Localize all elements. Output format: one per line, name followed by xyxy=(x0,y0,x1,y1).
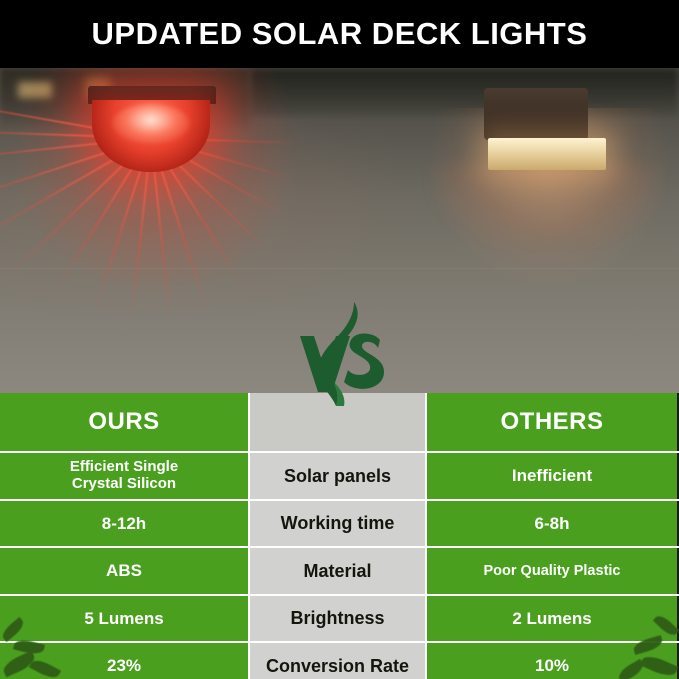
warm-solar-deck-light-body xyxy=(484,88,588,140)
row-others-value: 2 Lumens xyxy=(427,596,677,642)
row-feature-label: Brightness xyxy=(250,596,427,642)
row-ours-value: 8-12h xyxy=(0,501,250,547)
table-row: 5 Lumens Brightness 2 Lumens xyxy=(0,596,679,644)
header-ours: OURS xyxy=(0,393,250,451)
header-banner: UPDATED SOLAR DECK LIGHTS xyxy=(0,0,679,68)
red-light-hotspot xyxy=(112,104,190,144)
product-photo xyxy=(0,68,679,393)
ad-image: UPDATED SOLAR DECK LIGHTS xyxy=(0,0,679,679)
table-row: 8-12h Working time 6-8h xyxy=(0,501,679,549)
table-header-row: OURS OTHERS xyxy=(0,393,679,453)
row-feature-label: Material xyxy=(250,548,427,594)
row-others-value: Inefficient xyxy=(427,453,677,499)
row-ours-value: ABS xyxy=(0,548,250,594)
row-feature-label: Working time xyxy=(250,501,427,547)
row-ours-value: 5 Lumens xyxy=(0,596,250,642)
row-feature-label: Conversion Rate xyxy=(250,643,427,679)
table-row: 23% Conversion Rate 10% xyxy=(0,643,679,679)
row-ours-value: Efficient Single Crystal Silicon xyxy=(0,453,250,499)
row-others-value: 10% xyxy=(427,643,677,679)
page-title: UPDATED SOLAR DECK LIGHTS xyxy=(92,16,588,52)
row-others-value: Poor Quality Plastic xyxy=(427,548,677,594)
table-row: ABS Material Poor Quality Plastic xyxy=(0,548,679,596)
header-feature xyxy=(250,393,427,451)
row-others-value: 6-8h xyxy=(427,501,677,547)
table-row: Efficient Single Crystal Silicon Solar p… xyxy=(0,453,679,501)
warm-solar-deck-light-lens xyxy=(488,138,606,170)
window-glow xyxy=(18,82,52,98)
comparison-table: OURS OTHERS Efficient Single Crystal Sil… xyxy=(0,393,679,679)
row-ours-value: 23% xyxy=(0,643,250,679)
warm-light-spill xyxy=(430,164,660,244)
header-others: OTHERS xyxy=(427,393,677,451)
row-feature-label: Solar panels xyxy=(250,453,427,499)
